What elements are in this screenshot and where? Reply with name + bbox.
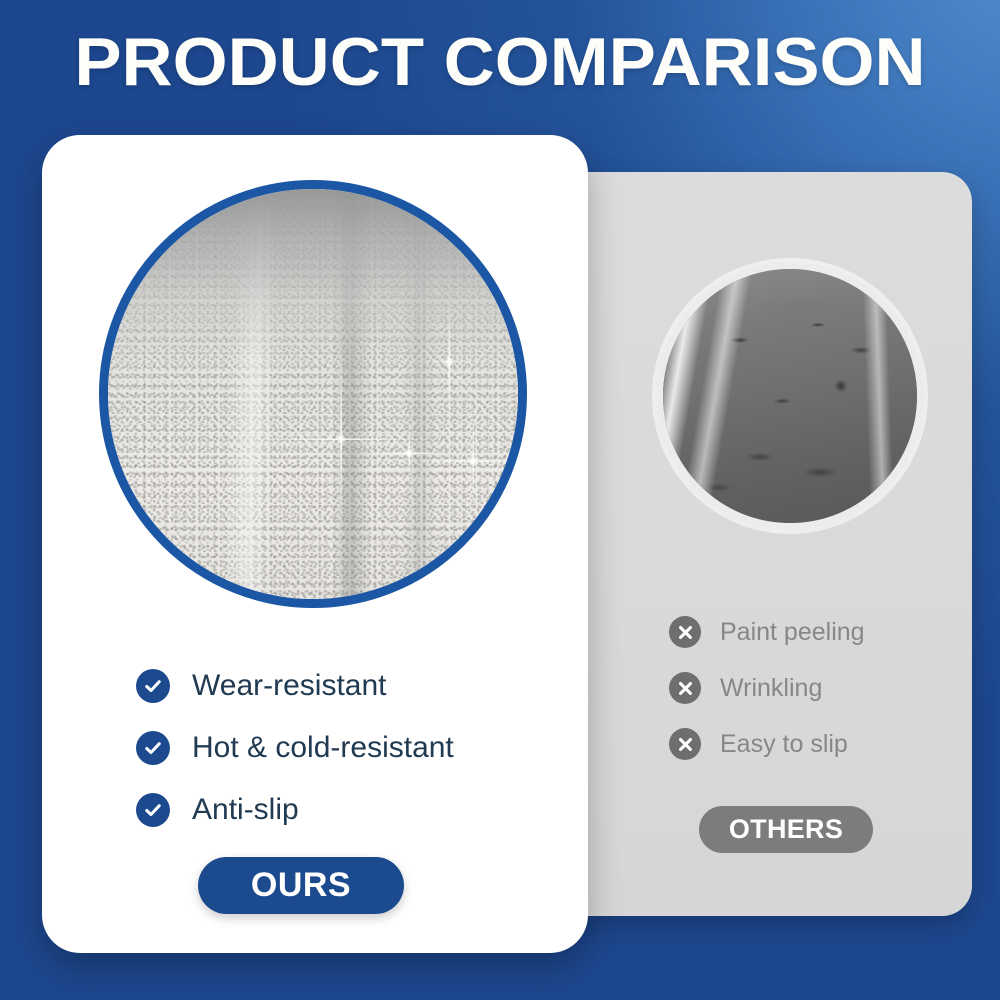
- drawback-label: Paint peeling: [720, 618, 865, 647]
- x-circle-icon: [669, 728, 701, 760]
- feature-label: Anti-slip: [192, 793, 299, 827]
- feature-label: Wear-resistant: [192, 669, 387, 703]
- x-circle-icon: [669, 616, 701, 648]
- drawback-label: Easy to slip: [720, 730, 848, 759]
- check-circle-icon: [136, 731, 170, 765]
- ours-floor-texture: [108, 189, 518, 599]
- comparison-poster: PRODUCT COMPARISON Paint peeling: [0, 0, 1000, 1000]
- others-card: Paint peeling Wrinkling Easy to slip: [524, 172, 972, 916]
- others-product-image: [656, 262, 924, 530]
- ours-feature-list: Wear-resistant Hot & cold-resistant Anti…: [136, 655, 556, 841]
- ours-product-image: [99, 180, 527, 608]
- list-item: Hot & cold-resistant: [136, 717, 556, 779]
- drawback-label: Wrinkling: [720, 674, 822, 703]
- list-item: Anti-slip: [136, 779, 556, 841]
- list-item: Wear-resistant: [136, 655, 556, 717]
- check-circle-icon: [136, 669, 170, 703]
- others-floor-texture: [663, 269, 917, 523]
- ours-badge: OURS: [198, 857, 404, 914]
- page-title: PRODUCT COMPARISON: [0, 26, 1000, 98]
- others-badge: OTHERS: [699, 806, 873, 853]
- list-item: Wrinkling: [669, 660, 969, 716]
- ours-card: Wear-resistant Hot & cold-resistant Anti…: [42, 135, 588, 953]
- check-circle-icon: [136, 793, 170, 827]
- x-circle-icon: [669, 672, 701, 704]
- feature-label: Hot & cold-resistant: [192, 731, 454, 765]
- list-item: Paint peeling: [669, 604, 969, 660]
- list-item: Easy to slip: [669, 716, 969, 772]
- others-drawback-list: Paint peeling Wrinkling Easy to slip: [669, 604, 969, 772]
